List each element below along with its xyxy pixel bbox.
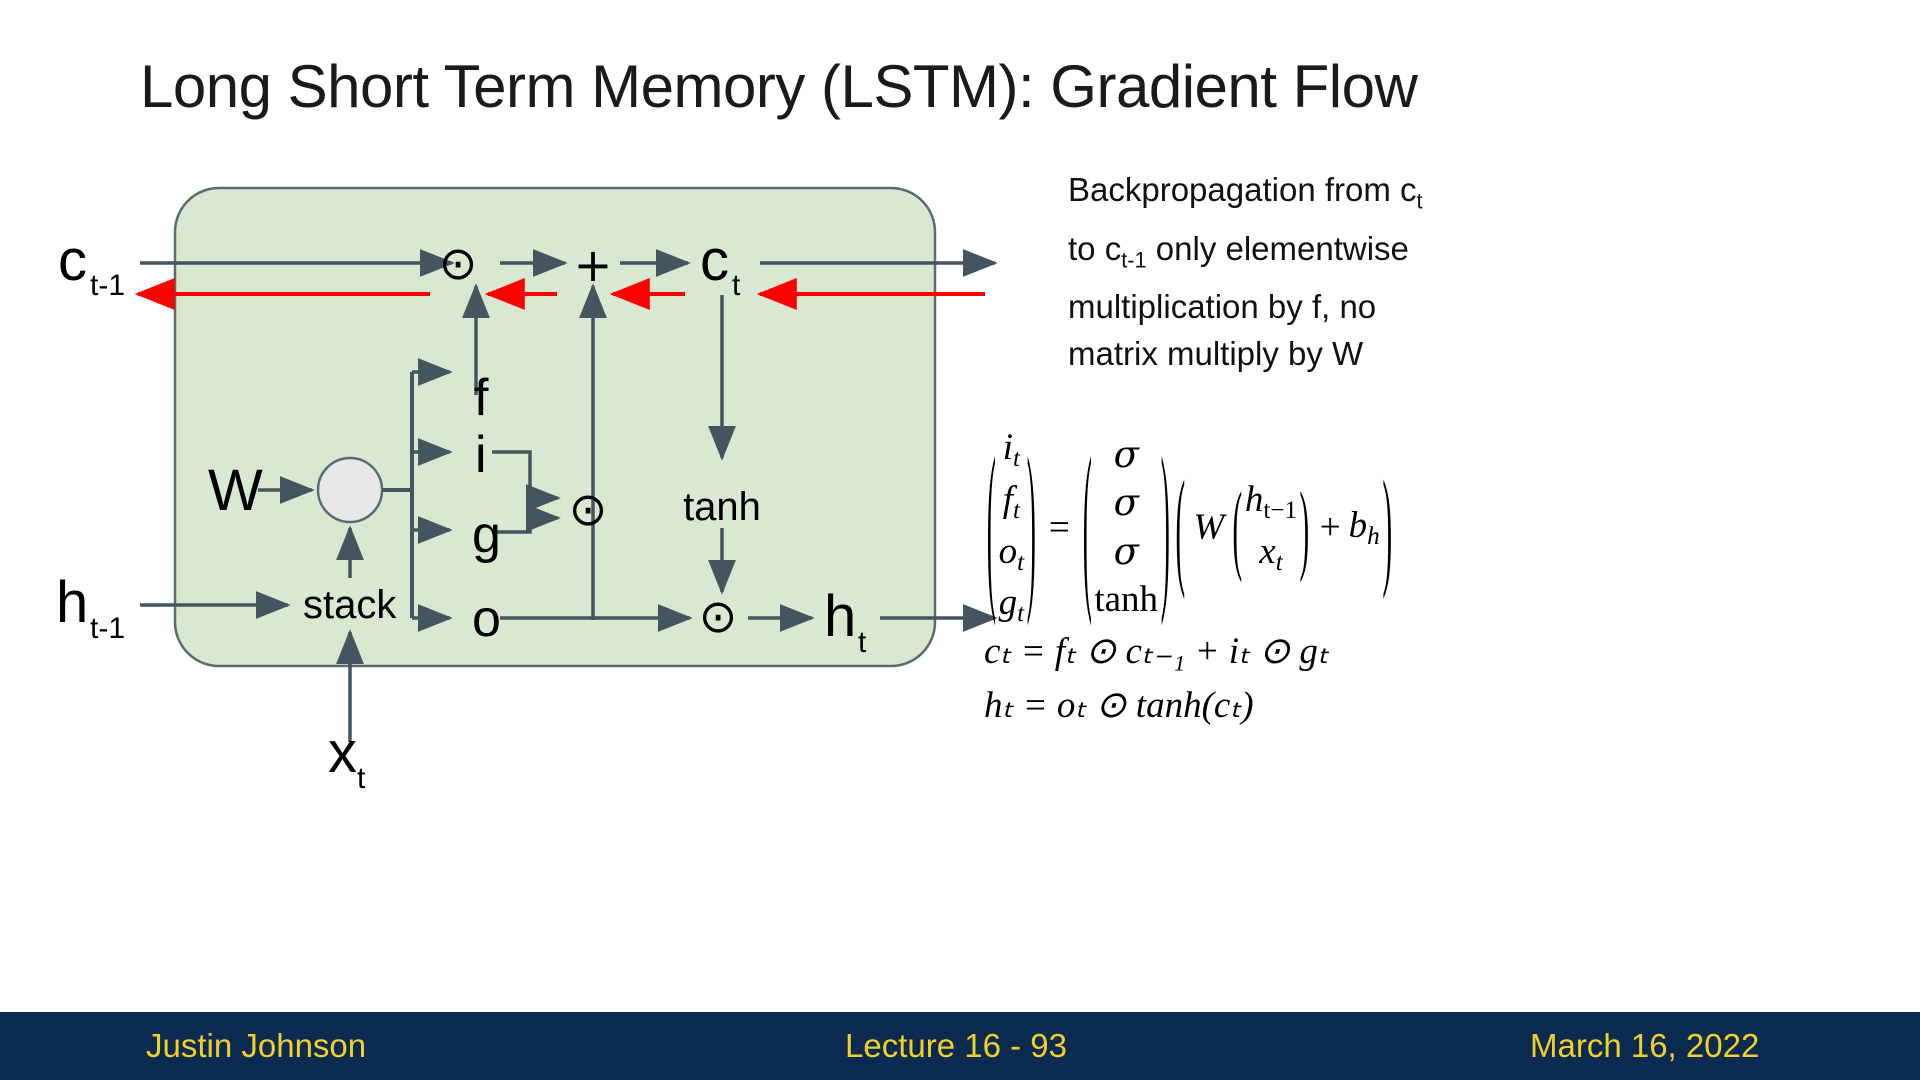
explanation-line-4: matrix multiply by W [1068, 330, 1498, 377]
rparen-gates: ) [1027, 442, 1036, 614]
explanation-line-2: to ct-1 only elementwise [1068, 225, 1498, 284]
label-stack: stack [303, 583, 397, 627]
page-title: Long Short Term Memory (LSTM): Gradient … [140, 52, 1417, 121]
label-weight: W [208, 458, 263, 523]
label-c-out: c [700, 228, 729, 293]
gate-o: o [472, 590, 501, 648]
label-h-out: h [824, 584, 856, 649]
op-multiply-input: ⊙ [569, 482, 608, 536]
op-multiply-forget: ⊙ [439, 236, 478, 290]
explanation-line-2-sub: t-1 [1121, 247, 1146, 272]
activation-4: tanh [1094, 576, 1158, 624]
label-h-prev: h [56, 570, 88, 635]
bias-sub: h [1367, 523, 1380, 550]
lstm-diagram: c t-1 ⊙ ⊙ + c t f i g o ⊙ tanh ⊙ h t W s… [0, 180, 1060, 980]
explanation-line-1: Backpropagation from ct [1068, 166, 1498, 225]
label-c-prev-sub: t-1 [90, 269, 125, 302]
gate-g: g [472, 506, 501, 564]
matmul-node [318, 458, 382, 522]
op-multiply-output: ⊙ [699, 589, 738, 643]
bias-symbol: b [1349, 505, 1368, 546]
footer-lecture: Lecture 16 - 93 [845, 1027, 1067, 1065]
label-h-out-sub: t [858, 626, 867, 659]
explanation-line-1-text: Backpropagation from c [1068, 171, 1417, 208]
explanation-text: Backpropagation from ct to ct-1 only ele… [1068, 166, 1498, 377]
activations-vector: σ σ σ tanh [1094, 431, 1158, 623]
label-h-prev-sub: t-1 [90, 612, 125, 645]
activation-2: σ [1114, 479, 1139, 527]
hidden-state-equation: hₜ = oₜ ⊙ tanh(cₜ) [984, 679, 1914, 733]
activation-1: σ [1114, 431, 1139, 479]
gate-vec-g-sub: t [1017, 600, 1024, 627]
explanation-line-2-post: only elementwise [1147, 230, 1409, 267]
weight-matrix-symbol: W [1193, 506, 1224, 549]
footer-date: March 16, 2022 [1530, 1027, 1759, 1065]
gate-vec-g: g [999, 582, 1018, 623]
label-tanh: tanh [683, 485, 761, 529]
equals-sign: = [1049, 506, 1070, 549]
rparen-outer: ) [1382, 451, 1392, 604]
gate-vec-o-sub: t [1017, 549, 1024, 576]
plus-sign: + [1320, 506, 1341, 549]
lparen-inputs: ( [1233, 469, 1243, 586]
activation-3: σ [1114, 528, 1139, 576]
gates-vector: it ft ot gt [999, 424, 1025, 631]
rparen-inputs: ) [1300, 469, 1310, 586]
gate-vec-o: o [999, 531, 1018, 572]
rparen-acts: ) [1161, 442, 1170, 614]
input-h: h [1245, 479, 1264, 520]
input-x: x [1259, 531, 1275, 572]
op-add: + [574, 238, 613, 292]
gate-vec-i-sub: t [1013, 445, 1020, 472]
footer-author: Justin Johnson [146, 1027, 366, 1065]
explanation-line-1-sub: t [1417, 189, 1423, 214]
gate-vec-i: i [1003, 427, 1013, 468]
gate-f: f [474, 369, 489, 427]
footer-bar: Justin Johnson Lecture 16 - 93 March 16,… [0, 1012, 1920, 1080]
lstm-cell-panel [175, 188, 935, 666]
gate-i: i [475, 426, 487, 484]
equations-block: ( it ft ot gt ) = ( σ σ σ tanh ) ( W ( h… [984, 430, 1914, 733]
label-c-out-sub: t [732, 269, 741, 302]
label-c-prev: c [58, 228, 87, 293]
input-vector: ht−1 xt [1245, 476, 1297, 579]
label-x-in: x [328, 720, 357, 785]
input-x-sub: t [1276, 549, 1283, 576]
gate-vec-f-sub: t [1013, 497, 1020, 524]
gate-equation: ( it ft ot gt ) = ( σ σ σ tanh ) ( W ( h… [984, 430, 1914, 625]
label-x-in-sub: t [357, 762, 366, 795]
lparen-gates: ( [987, 442, 996, 614]
lparen-acts: ( [1082, 442, 1091, 614]
lparen-outer: ( [1175, 451, 1185, 604]
cell-state-equation: cₜ = fₜ ⊙ cₜ₋₁ + iₜ ⊙ gₜ [984, 625, 1914, 679]
explanation-line-3: multiplication by f, no [1068, 283, 1498, 330]
input-h-sub: t−1 [1263, 497, 1297, 524]
gate-vec-f: f [1003, 479, 1013, 520]
explanation-line-2-pre: to c [1068, 230, 1121, 267]
